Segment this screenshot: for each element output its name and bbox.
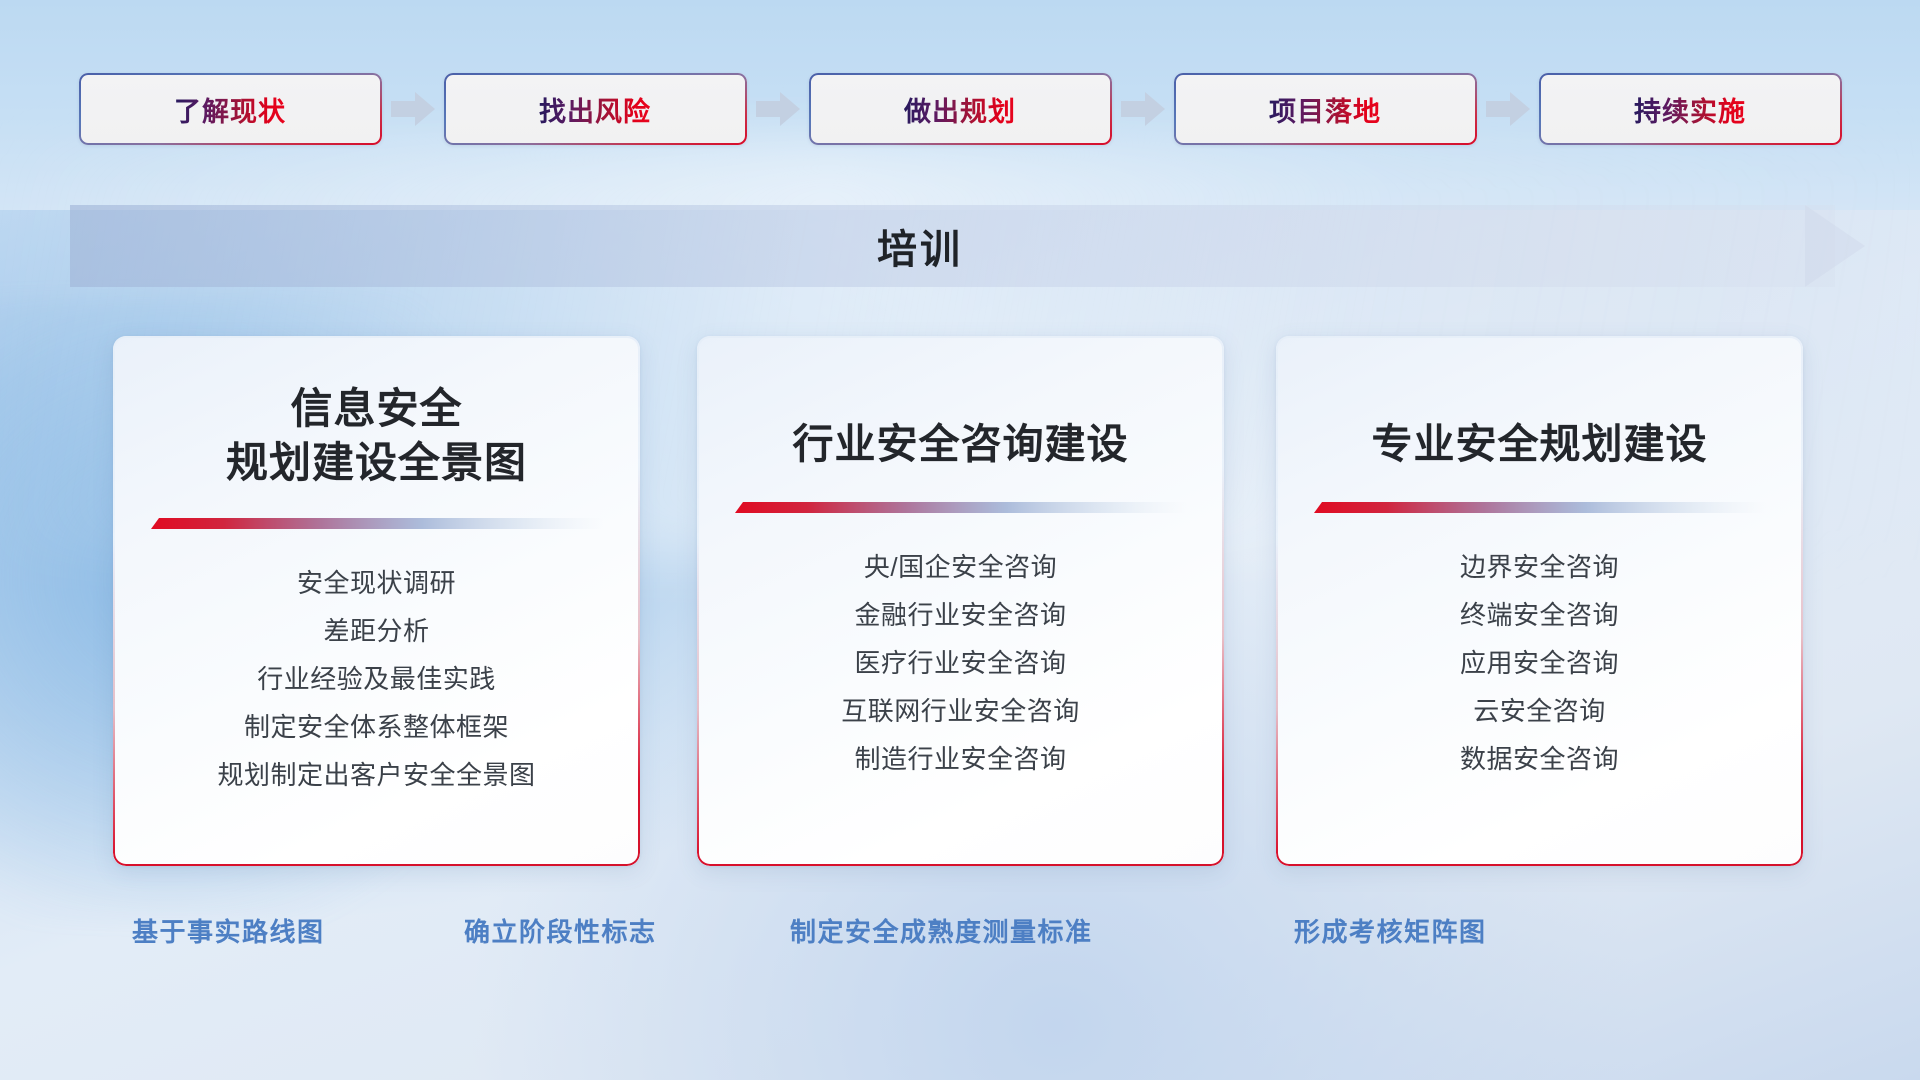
card-divider-1 xyxy=(735,500,1187,513)
step-label-0: 了解现状 xyxy=(174,90,286,129)
step-label-4: 持续实施 xyxy=(1634,90,1746,129)
card-industry-security-consulting[interactable]: 行业安全咨询建设 央/国企安全咨询 金融行业安全咨询 医 xyxy=(697,336,1224,866)
card-professional-security-planning[interactable]: 专业安全规划建设 边界安全咨询 终端安全咨询 应用安全咨 xyxy=(1276,336,1803,866)
training-title: 培训 xyxy=(70,205,1770,287)
card-divider-0 xyxy=(151,516,603,529)
step-arrow-1 xyxy=(747,68,809,150)
training-banner: 培训 xyxy=(70,205,1865,287)
process-step-row: 了解现状 找出风险 做出规划 项目落地 持续实施 xyxy=(0,68,1920,150)
step-box-1[interactable]: 找出风险 xyxy=(444,73,747,145)
card-list-2: 边界安全咨询 终端安全咨询 应用安全咨询 云安全咨询 数据安全咨询 xyxy=(1306,543,1773,783)
list-item: 规划制定出客户安全全景图 xyxy=(143,751,610,799)
bottom-label-1: 确立阶段性标志 xyxy=(464,912,657,949)
list-item: 制造行业安全咨询 xyxy=(727,735,1194,783)
list-item: 行业经验及最佳实践 xyxy=(143,655,610,703)
list-item: 互联网行业安全咨询 xyxy=(727,687,1194,735)
step-label-1: 找出风险 xyxy=(539,90,651,129)
card-title-2: 专业安全规划建设 xyxy=(1306,378,1773,470)
card-information-security-blueprint[interactable]: 信息安全 规划建设全景图 安全现状调研 差距分析 行业经 xyxy=(113,336,640,866)
list-item: 终端安全咨询 xyxy=(1306,591,1773,639)
step-arrow-2 xyxy=(1112,68,1174,150)
step-box-0[interactable]: 了解现状 xyxy=(79,73,382,145)
step-label-2: 做出规划 xyxy=(904,90,1016,129)
card-divider-2 xyxy=(1314,500,1766,513)
list-item: 制定安全体系整体框架 xyxy=(143,703,610,751)
step-box-4[interactable]: 持续实施 xyxy=(1539,73,1842,145)
list-item: 应用安全咨询 xyxy=(1306,639,1773,687)
list-item: 数据安全咨询 xyxy=(1306,735,1773,783)
bottom-label-0: 基于事实路线图 xyxy=(132,912,325,949)
bottom-label-3: 形成考核矩阵图 xyxy=(1294,912,1487,949)
list-item: 差距分析 xyxy=(143,607,610,655)
card-title-1: 行业安全咨询建设 xyxy=(727,378,1194,470)
list-item: 金融行业安全咨询 xyxy=(727,591,1194,639)
card-title-0: 信息安全 规划建设全景图 xyxy=(143,378,610,490)
card-list-1: 央/国企安全咨询 金融行业安全咨询 医疗行业安全咨询 互联网行业安全咨询 制造行… xyxy=(727,543,1194,783)
list-item: 央/国企安全咨询 xyxy=(727,543,1194,591)
banner-arrow-icon xyxy=(1805,196,1865,296)
bottom-label-row: 基于事实路线图 确立阶段性标志 制定安全成熟度测量标准 形成考核矩阵图 xyxy=(0,912,1920,960)
card-list-0: 安全现状调研 差距分析 行业经验及最佳实践 制定安全体系整体框架 规划制定出客户… xyxy=(143,559,610,799)
card-row: 信息安全 规划建设全景图 安全现状调研 差距分析 行业经 xyxy=(0,336,1920,866)
step-box-3[interactable]: 项目落地 xyxy=(1174,73,1477,145)
list-item: 医疗行业安全咨询 xyxy=(727,639,1194,687)
step-label-3: 项目落地 xyxy=(1269,90,1381,129)
step-box-2[interactable]: 做出规划 xyxy=(809,73,1112,145)
step-arrow-0 xyxy=(382,68,444,150)
step-arrow-3 xyxy=(1477,68,1539,150)
list-item: 安全现状调研 xyxy=(143,559,610,607)
list-item: 云安全咨询 xyxy=(1306,687,1773,735)
list-item: 边界安全咨询 xyxy=(1306,543,1773,591)
bottom-label-2: 制定安全成熟度测量标准 xyxy=(790,912,1093,949)
